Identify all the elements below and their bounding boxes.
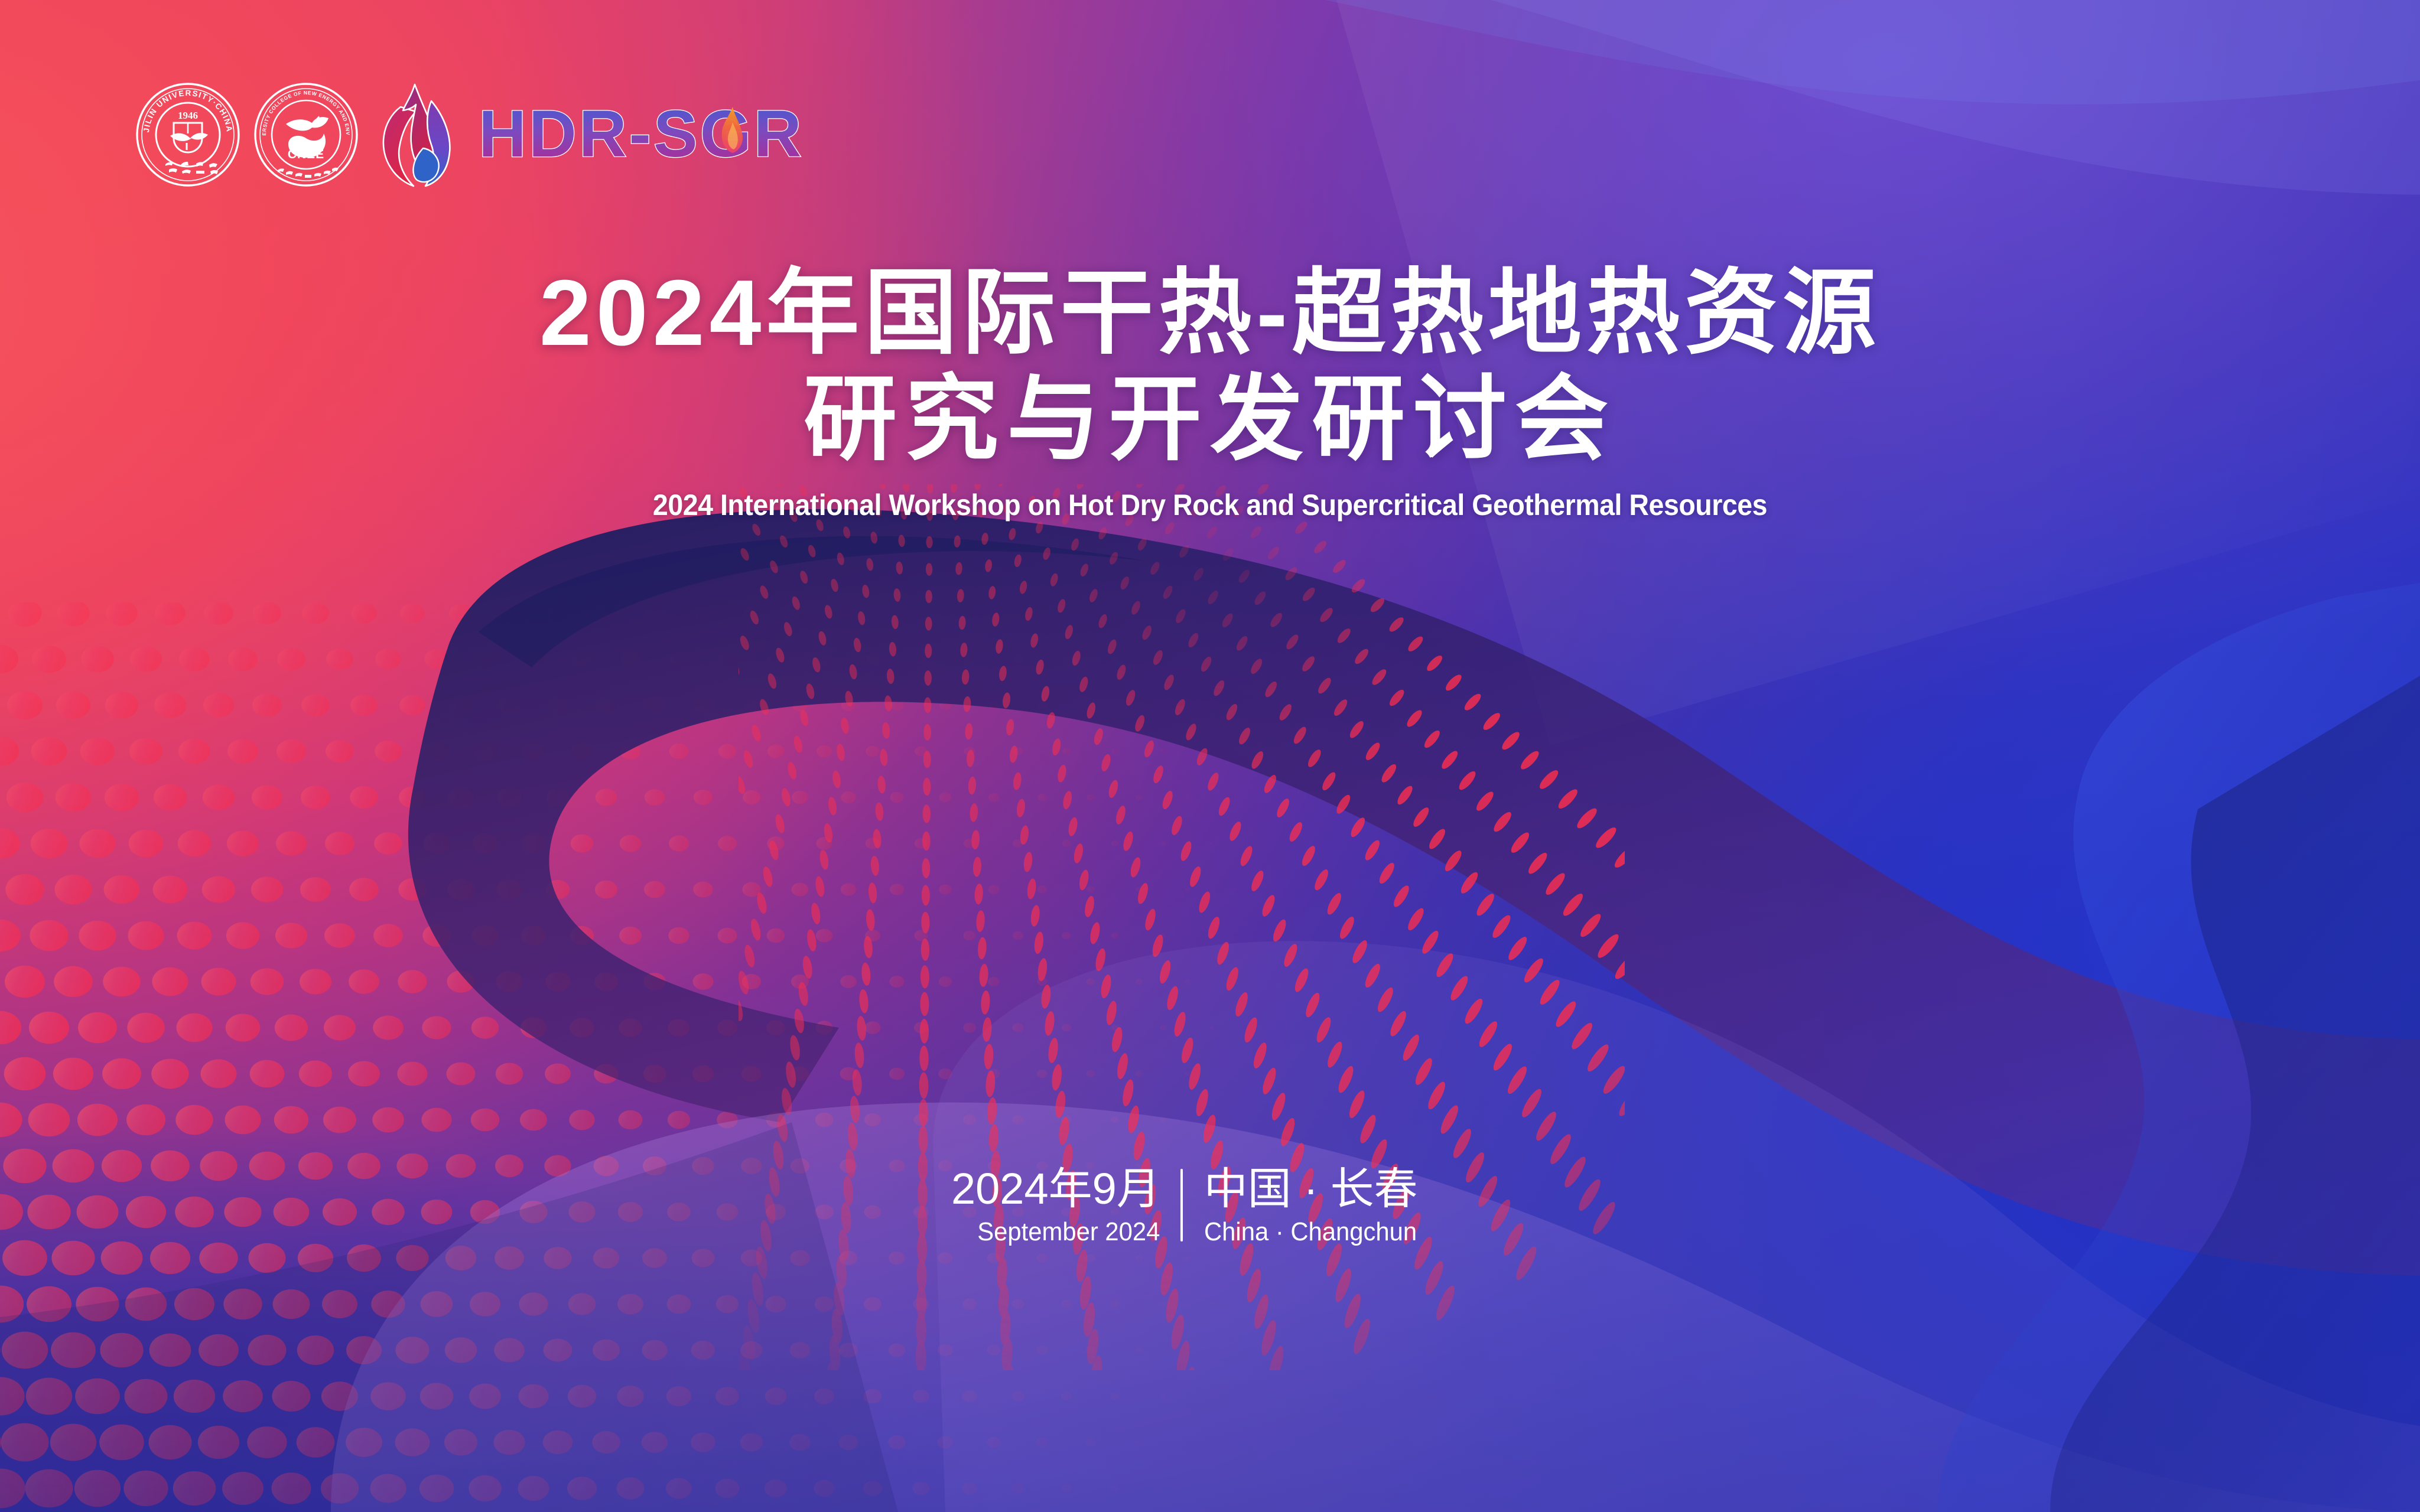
event-date-chinese: 2024年9月 [951, 1166, 1160, 1211]
event-date: 2024年9月 September 2024 [951, 1166, 1180, 1247]
svg-text:CNEE: CNEE [288, 148, 324, 161]
cnee-seal: JILIN UNIVERSITY COLLEGE OF NEW ENERGY A… [253, 82, 359, 188]
event-meta: 2024年9月 September 2024 中国 · 长春 China · C… [951, 1166, 1428, 1247]
event-location-english: China · Changchun [1204, 1217, 1417, 1247]
svg-text:1946: 1946 [178, 110, 198, 121]
hdr-sgr-wordmark: HDR-SGR [479, 96, 833, 173]
event-date-english: September 2024 [978, 1217, 1160, 1247]
event-location: 中国 · 长春 China · Changchun [1183, 1166, 1428, 1247]
event-location-chinese: 中国 · 长春 [1204, 1166, 1418, 1211]
hdr-sgr-flame-icon [377, 79, 466, 191]
svg-text:HDR-SGR: HDR-SGR [479, 97, 804, 171]
conference-poster: JILIN UNIVERSITY·CHINA 1946 [0, 0, 2420, 1512]
jilin-university-seal: JILIN UNIVERSITY·CHINA 1946 [135, 82, 241, 188]
logo-row: JILIN UNIVERSITY·CHINA 1946 [135, 76, 833, 194]
